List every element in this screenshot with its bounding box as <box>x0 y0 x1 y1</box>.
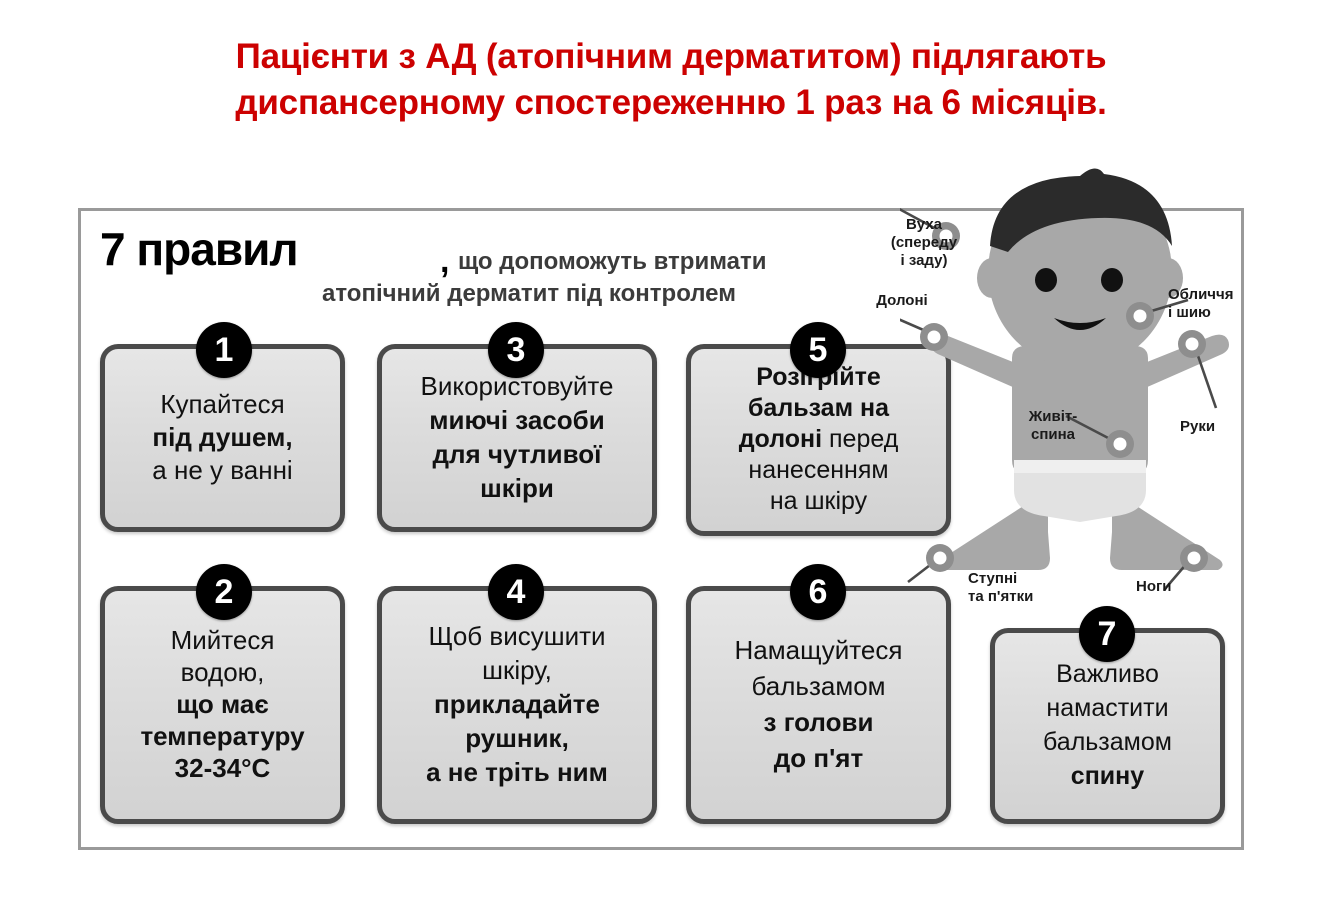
rule-badge-5: 5 <box>790 322 846 378</box>
body-label-feet-heels: Ступні та п'ятки <box>968 570 1064 606</box>
body-label-face-neck: Обличчя і шию <box>1168 286 1264 322</box>
rule-badge-7: 7 <box>1079 606 1135 662</box>
body-label-legs: Ноги <box>1136 578 1196 596</box>
rule-card-1-text: Купайтесяпід душем,а не у ванні <box>113 388 332 487</box>
body-label-hands: Руки <box>1180 418 1240 436</box>
right-eye <box>1101 268 1123 292</box>
rule-badge-6: 6 <box>790 564 846 620</box>
heading-subtitle-line-1: що допоможуть втримати <box>458 248 767 276</box>
marker-face-neck <box>1126 302 1154 330</box>
rule-card-7-text: Важливонамаститибальзамомспину <box>1003 657 1212 793</box>
diaper-band <box>1014 460 1146 473</box>
rule-badge-4: 4 <box>488 564 544 620</box>
page-title: Пацієнти з АД (атопічним дерматитом) під… <box>0 34 1342 126</box>
body-label-belly-back: Живіт- спина <box>1016 408 1090 444</box>
marker-feet-heels <box>926 544 954 572</box>
marker-hands <box>1178 330 1206 358</box>
title-line-2: диспансерному спостереженню 1 раз на 6 м… <box>0 80 1342 126</box>
marker-legs <box>1180 544 1208 572</box>
rule-card-6-text: Намащуйтесябальзамомз головидо п'ят <box>699 632 938 776</box>
rule-card-3-text: Використовуйтемиючі засобидля чутливоїшк… <box>390 369 644 505</box>
body-label-ears: Вуха (спереду і заду) <box>876 216 972 270</box>
rule-badge-1: 1 <box>196 322 252 378</box>
title-line-1: Пацієнти з АД (атопічним дерматитом) під… <box>0 34 1342 80</box>
rule-card-2-text: Мийтесяводою,що маєтемпературу32-34°C <box>113 624 332 784</box>
body-label-palms: Долоні <box>866 292 938 310</box>
heading-subtitle-line-2: атопічний дерматит під контролем <box>322 280 736 308</box>
infographic-heading: 7 правил , що допоможуть втримати атопіч… <box>100 216 900 316</box>
rule-badge-2: 2 <box>196 564 252 620</box>
left-eye <box>1035 268 1057 292</box>
rule-card-4[interactable]: Щоб висушитишкіру,прикладайтерушник,а не… <box>377 586 657 824</box>
heading-comma: , <box>440 242 449 281</box>
left-ear-shape <box>977 258 1007 298</box>
rule-card-4-text: Щоб висушитишкіру,прикладайтерушник,а не… <box>390 619 644 789</box>
heading-rule-count: 7 правил <box>100 222 298 276</box>
marker-palms <box>920 323 948 351</box>
rule-card-6[interactable]: Намащуйтесябальзамомз головидо п'ят <box>686 586 951 824</box>
rule-badge-3: 3 <box>488 322 544 378</box>
rule-card-2[interactable]: Мийтесяводою,що маєтемпературу32-34°C <box>100 586 345 824</box>
marker-belly-back <box>1106 430 1134 458</box>
